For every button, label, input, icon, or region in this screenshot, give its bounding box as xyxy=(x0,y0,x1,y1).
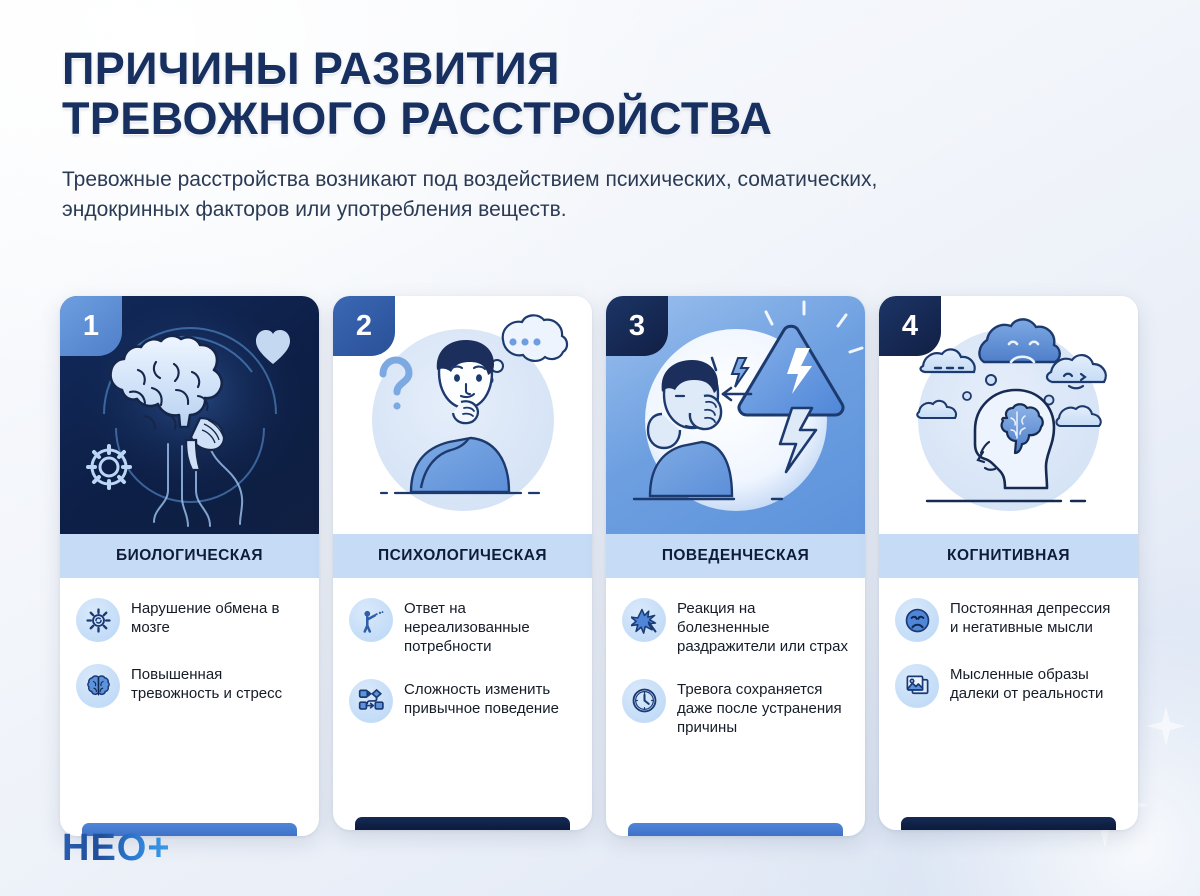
thought-cloud-icon xyxy=(979,319,1059,362)
card-cognitive[interactable]: 4 КОГНИТИВНАЯ Постоянная депрессия и нег… xyxy=(879,296,1138,830)
clock-icon xyxy=(622,679,666,723)
card-3-label-band: ПОВЕДЕНЧЕСКАЯ xyxy=(606,534,865,578)
card-2-number-badge: 2 xyxy=(333,296,395,356)
list-item-text: Повышенная тревожность и стресс xyxy=(131,664,303,703)
question-mark-icon xyxy=(383,360,409,410)
flowchart-icon xyxy=(349,679,393,723)
cards-container: 1 БИОЛОГИЧЕСКАЯ Нарушение обмена в мозге xyxy=(60,296,1150,836)
thought-bubble-icon xyxy=(485,315,567,383)
burst-impact-icon xyxy=(622,598,666,642)
list-item: Мысленные образы далеки от реальности xyxy=(895,664,1122,708)
card-psychological[interactable]: 2 ПСИХОЛОГИЧЕСКАЯ Ответ на нереализованн… xyxy=(333,296,592,830)
list-item-text: Постоянная депрессия и негативные мысли xyxy=(950,598,1122,637)
card-3-accent-bar xyxy=(628,823,843,836)
photos-icon xyxy=(895,664,939,708)
card-4-number-badge: 4 xyxy=(879,296,941,356)
warning-triangle-icon xyxy=(739,326,843,415)
card-1-label-band: БИОЛОГИЧЕСКАЯ xyxy=(60,534,319,578)
card-1-number-badge: 1 xyxy=(60,296,122,356)
list-item-text: Ответ на нереализованные потребности xyxy=(404,598,576,657)
card-4-bullets: Постоянная депрессия и негативные мысли … xyxy=(879,578,1138,830)
card-1-bullets: Нарушение обмена в мозге Повышенная трев… xyxy=(60,578,319,836)
card-2-bullets: Ответ на нереализованные потребности xyxy=(333,578,592,830)
page-title-line-2: ТРЕВОЖНОГО РАССТРОЙСТВА xyxy=(62,94,1142,144)
sad-face-icon xyxy=(895,598,939,642)
list-item: Нарушение обмена в мозге xyxy=(76,598,303,642)
card-3-label: ПОВЕДЕНЧЕСКАЯ xyxy=(662,547,809,565)
list-item: Постоянная депрессия и негативные мысли xyxy=(895,598,1122,642)
card-2-illustration: 2 xyxy=(333,296,592,534)
card-behavioral[interactable]: 3 ПОВЕДЕНЧЕСКАЯ Реакция на болезненные р… xyxy=(606,296,865,836)
card-2-label-band: ПСИХОЛОГИЧЕСКАЯ xyxy=(333,534,592,578)
card-4-label-band: КОГНИТИВНАЯ xyxy=(879,534,1138,578)
list-item-text: Реакция на болезненные раздражители или … xyxy=(677,598,849,657)
list-item: Ответ на нереализованные потребности xyxy=(349,598,576,657)
card-4-accent-bar xyxy=(901,817,1116,830)
card-1-label: БИОЛОГИЧЕСКАЯ xyxy=(116,547,263,565)
card-2-number: 2 xyxy=(356,310,372,343)
page-subtitle: Тревожные расстройства возникают под воз… xyxy=(62,165,1002,225)
brand-logo: НЕО+ xyxy=(62,827,171,870)
card-2-label: ПСИХОЛОГИЧЕСКАЯ xyxy=(378,547,547,565)
list-item: Повышенная тревожность и стресс xyxy=(76,664,303,708)
page-title-line-1: ПРИЧИНЫ РАЗВИТИЯ xyxy=(62,43,560,94)
page-title: ПРИЧИНЫ РАЗВИТИЯ ТРЕВОЖНОГО РАССТРОЙСТВА xyxy=(62,44,1142,145)
card-1-illustration: 1 xyxy=(60,296,319,534)
sparkle-decoration-small-icon xyxy=(1146,706,1186,746)
card-4-number: 4 xyxy=(902,310,918,343)
card-3-bullets: Реакция на болезненные раздражители или … xyxy=(606,578,865,836)
card-4-illustration: 4 xyxy=(879,296,1138,534)
list-item-text: Тревога сохраняется даже после устранени… xyxy=(677,679,849,738)
brain-icon xyxy=(76,664,120,708)
list-item: Реакция на болезненные раздражители или … xyxy=(622,598,849,657)
gear-recycle-icon xyxy=(76,598,120,642)
brand-logo-text: НЕО+ xyxy=(62,827,171,870)
card-4-label: КОГНИТИВНАЯ xyxy=(947,547,1070,565)
card-3-illustration: 3 xyxy=(606,296,865,534)
list-item-text: Мысленные образы далеки от реальности xyxy=(950,664,1122,703)
card-2-accent-bar xyxy=(355,817,570,830)
card-1-number: 1 xyxy=(83,310,99,343)
list-item-text: Нарушение обмена в мозге xyxy=(131,598,303,637)
list-item: Тревога сохраняется даже после устранени… xyxy=(622,679,849,738)
card-3-number-badge: 3 xyxy=(606,296,668,356)
list-item-text: Сложность изменить привычное поведение xyxy=(404,679,576,718)
lightning-bolt-icon xyxy=(780,408,816,472)
list-item: Сложность изменить привычное поведение xyxy=(349,679,576,723)
card-3-number: 3 xyxy=(629,310,645,343)
person-reaching-icon xyxy=(349,598,393,642)
card-biological[interactable]: 1 БИОЛОГИЧЕСКАЯ Нарушение обмена в мозге xyxy=(60,296,319,836)
header: ПРИЧИНЫ РАЗВИТИЯ ТРЕВОЖНОГО РАССТРОЙСТВА… xyxy=(62,44,1142,224)
